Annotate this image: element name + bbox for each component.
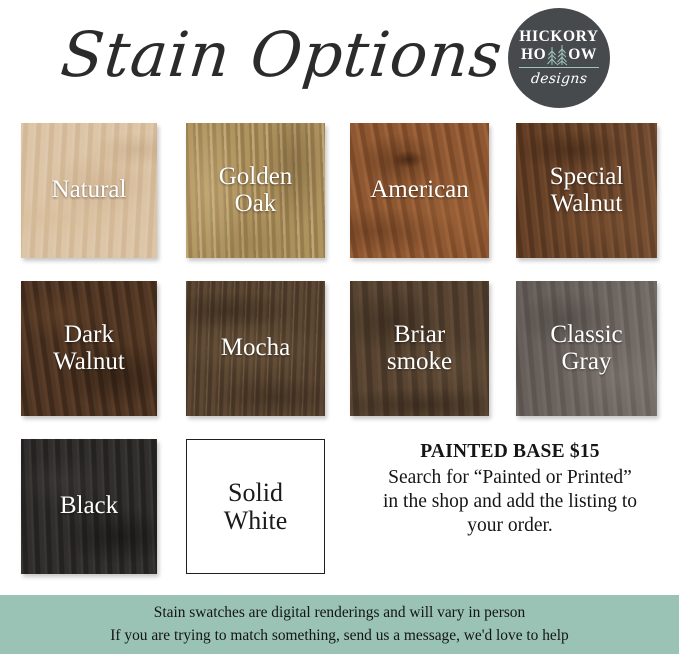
painted-base-line-2: in the shop and add the listing to — [348, 490, 672, 514]
swatch-label-solid-white: Solid White — [220, 479, 292, 534]
swatch-label-line: Natural — [52, 176, 127, 203]
header: Stain Options HICKORY HOLLOW — [0, 0, 679, 112]
painted-base-line-1: Search for “Painted or Printed” — [348, 466, 672, 490]
swatch-label-classic-gray: Classic Gray — [546, 322, 626, 375]
swatch-label-line: Walnut — [53, 348, 125, 375]
swatch-row-2: Dark Walnut Mocha Briar smoke Classic — [0, 276, 679, 434]
swatch-label-natural: Natural — [48, 177, 131, 204]
swatch-american[interactable]: American — [350, 123, 489, 258]
swatch-label-line: Classic — [550, 321, 622, 348]
swatch-label-line: Dark — [64, 321, 114, 348]
swatch-dark-walnut[interactable]: Dark Walnut — [21, 281, 157, 416]
swatch-label-briar-smoke: Briar smoke — [383, 322, 456, 375]
swatch-label-mocha: Mocha — [217, 335, 294, 362]
swatch-black[interactable]: Black — [21, 439, 157, 574]
disclaimer-line-2: If you are trying to match something, se… — [110, 625, 568, 647]
swatch-label-dark-walnut: Dark Walnut — [49, 322, 129, 375]
swatch-briar-smoke[interactable]: Briar smoke — [350, 281, 489, 416]
swatch-label-american: American — [366, 177, 473, 204]
swatch-label-line: Briar — [394, 321, 445, 348]
painted-base-heading: PAINTED BASE $15 — [348, 441, 672, 463]
swatch-label-black: Black — [56, 493, 122, 520]
swatch-label-line: Special — [550, 163, 624, 190]
painted-base-line-3: your order. — [348, 514, 672, 538]
swatch-label-line: Black — [60, 492, 118, 519]
swatch-natural[interactable]: Natural — [21, 123, 157, 258]
swatch-row-1: Natural Golden Oak American Special — [0, 118, 679, 276]
swatch-label-line: Mocha — [221, 334, 290, 361]
logo-divider — [519, 67, 599, 68]
swatch-label-golden-oak: Golden Oak — [215, 164, 297, 217]
swatch-label-line: Oak — [235, 190, 277, 217]
page-title: Stain Options — [47, 2, 518, 106]
swatch-label-line: American — [370, 176, 469, 203]
swatch-classic-gray[interactable]: Classic Gray — [516, 281, 657, 416]
painted-base-body: Search for “Painted or Printed” in the s… — [348, 466, 672, 539]
swatch-solid-white[interactable]: Solid White — [186, 439, 325, 574]
swatch-mocha[interactable]: Mocha — [186, 281, 325, 416]
painted-base-note: PAINTED BASE $15 Search for “Painted or … — [348, 441, 672, 539]
swatch-label-line: Golden — [219, 163, 293, 190]
swatch-label-line: White — [224, 506, 288, 535]
swatch-special-walnut[interactable]: Special Walnut — [516, 123, 657, 258]
swatch-label-line: smoke — [387, 348, 452, 375]
swatch-golden-oak[interactable]: Golden Oak — [186, 123, 325, 258]
swatch-label-special-walnut: Special Walnut — [546, 164, 628, 217]
pine-trees-icon — [544, 43, 574, 67]
logo-tagline: designs — [530, 71, 588, 87]
swatch-label-line: Solid — [228, 478, 283, 507]
brand-logo: HICKORY HOLLOW — [508, 8, 610, 108]
logo-line-hollow: HOLLOW — [517, 46, 601, 65]
swatch-label-line: Walnut — [551, 190, 623, 217]
swatch-label-line: Gray — [562, 348, 612, 375]
disclaimer-line-1: Stain swatches are digital renderings an… — [154, 602, 525, 624]
logo-hollow-prefix: HO — [521, 46, 546, 63]
disclaimer-banner: Stain swatches are digital renderings an… — [0, 595, 679, 654]
